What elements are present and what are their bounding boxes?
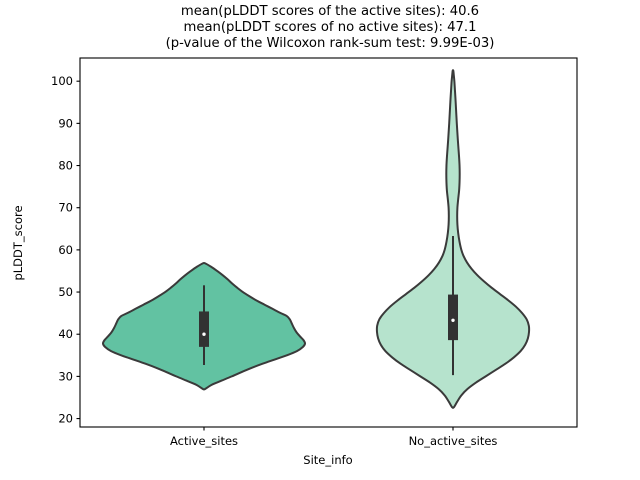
y-tick-label: 30 <box>58 369 73 383</box>
y-tick-label: 70 <box>58 201 73 215</box>
violins-layer <box>103 70 529 408</box>
plot-canvas: mean(pLDDT scores of the active sites): … <box>0 0 640 480</box>
y-tick-label: 50 <box>58 285 73 299</box>
y-axis-ticks: 2030405060708090100 <box>51 74 80 425</box>
x-axis-ticks: Active_sitesNo_active_sites <box>170 427 497 448</box>
plot-title: mean(pLDDT scores of the active sites): … <box>166 4 495 51</box>
violin-no-active-sites[interactable] <box>377 70 529 408</box>
median-marker <box>202 333 205 336</box>
y-axis-label: pLDDT_score <box>11 205 25 280</box>
y-tick-label: 100 <box>51 74 73 88</box>
violin-plot-figure: mean(pLDDT scores of the active sites): … <box>0 0 640 480</box>
title-line-2: mean(pLDDT scores of no active sites): 4… <box>184 20 477 35</box>
y-tick-label: 20 <box>58 412 73 426</box>
x-tick-label[interactable]: No_active_sites <box>409 434 498 448</box>
y-tick-label: 40 <box>58 327 73 341</box>
title-line-1: mean(pLDDT scores of the active sites): … <box>181 4 479 19</box>
violin-active-sites[interactable] <box>103 263 305 390</box>
y-tick-label: 60 <box>58 243 73 257</box>
title-line-3: (p-value of the Wilcoxon rank-sum test: … <box>166 36 495 51</box>
x-tick-label[interactable]: Active_sites <box>170 434 238 448</box>
interquartile-box <box>199 311 209 346</box>
axes-frame <box>80 58 577 427</box>
interquartile-box <box>448 295 458 341</box>
y-tick-label: 90 <box>58 116 73 130</box>
median-marker <box>451 319 454 322</box>
x-axis-label: Site_info <box>303 453 352 467</box>
y-tick-label: 80 <box>58 159 73 173</box>
